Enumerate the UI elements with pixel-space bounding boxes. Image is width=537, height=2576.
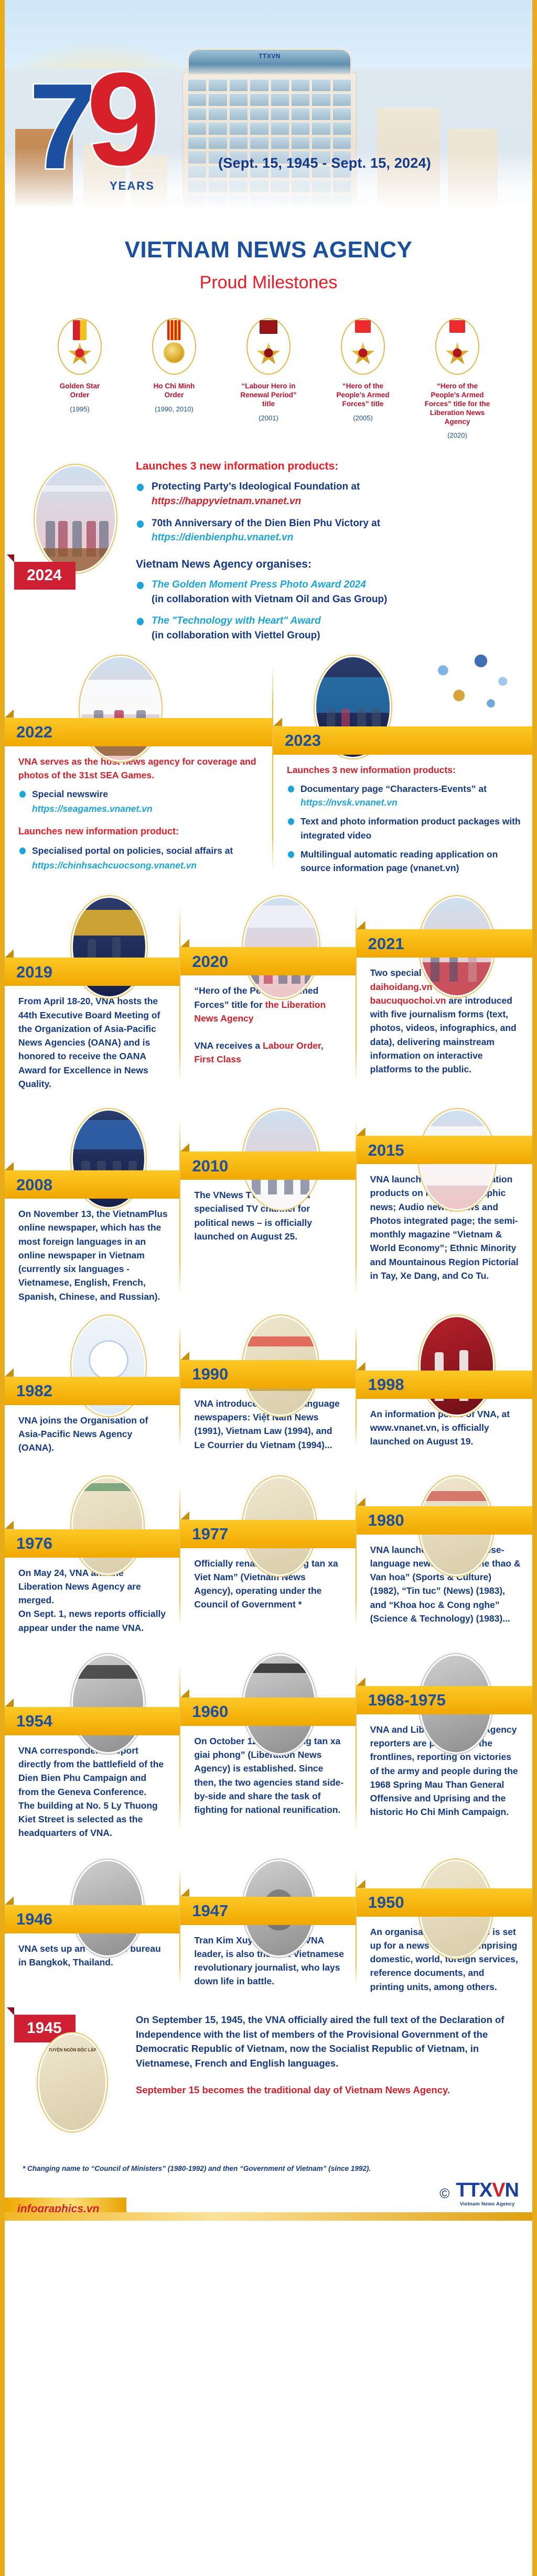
year-bar-1968-1975: 1968-1975 xyxy=(357,1686,532,1714)
year-label: 1950 xyxy=(368,1894,404,1910)
copyright-icon: © xyxy=(439,2186,449,2202)
timeline-cell-1980: 1980 VNA launches the Vietnamese-languag… xyxy=(357,1478,532,1635)
year-label: 1998 xyxy=(368,1376,404,1393)
publisher-credit: © TTXVN Vietnam News Agency xyxy=(439,2180,519,2207)
photo-1954-vna-staff xyxy=(73,1656,143,1752)
timeline-row: 1954 VNA correspondents report directly … xyxy=(5,1656,532,1840)
timeline-cell-2008: 2008 On November 13, the VietnamPlus onl… xyxy=(5,1111,180,1303)
timeline-cell-1982: 1982 VNA joins the Organisation of Asia-… xyxy=(5,1317,180,1455)
list-item: Specialised portal on policies, social a… xyxy=(18,844,262,873)
item-text: Special newswire xyxy=(32,789,108,799)
award-year: (2005) xyxy=(317,414,409,422)
list-item: Text and photo information product packa… xyxy=(287,814,521,842)
list-item: Special newswire https://seagames.vnanet… xyxy=(18,787,262,816)
timeline: 2022 VNA serves as the host news agency … xyxy=(5,657,532,1994)
timeline-cell-2021: 2021 Two special newswires daihoidang.vn… xyxy=(357,898,532,1091)
milestone-2024-content: Launches 3 new information products: Pro… xyxy=(136,457,532,642)
award-collaborator: (in collaboration with Vietnam Oil and G… xyxy=(152,593,511,606)
year-bar-2022: 2022 xyxy=(5,718,273,746)
year-label: 1980 xyxy=(368,1512,404,1528)
page-subtitle: Proud Milestones xyxy=(5,273,532,293)
heading-organises: Vietnam News Agency organises: xyxy=(136,558,511,571)
item-url[interactable]: https://seagames.vnanet.vn xyxy=(32,802,262,816)
award-item: “Hero of the People’s Armed Forces” titl… xyxy=(412,317,503,439)
timeline-cell-1976: 1976 On May 24, VNA and the Liberation N… xyxy=(5,1478,180,1635)
year-bar-1954: 1954 xyxy=(5,1707,180,1735)
bullet-list: Documentary page “Characters-Events” at … xyxy=(287,782,521,875)
timeline-cell-1977: 1977 Officially renamed “Thong tan xa Vi… xyxy=(180,1478,356,1635)
timeline-body: On November 13, the VietnamPlus online n… xyxy=(18,1199,169,1303)
list-item: Documentary page “Characters-Events” at … xyxy=(287,782,521,810)
year-bar-1950: 1950 xyxy=(357,1888,532,1917)
infographic-page: TTXVN 7 9 YEARS xyxy=(0,0,537,2576)
timeline-body: VNA joins the Organisation of Asia-Pacif… xyxy=(18,1405,169,1455)
year-label: 1954 xyxy=(16,1713,52,1729)
timeline-body: VNA serves as the host news agency for c… xyxy=(18,746,262,873)
photo-1976-document xyxy=(73,1478,142,1573)
year-bar-1976: 1976 xyxy=(5,1529,180,1558)
lead-text: Launches 3 new information products: xyxy=(287,763,521,777)
award-year: (2001) xyxy=(223,414,314,422)
year-label: 1968-1975 xyxy=(368,1692,446,1708)
list-item: The Golden Moment Press Photo Award 2024… xyxy=(136,578,511,606)
year-bar-2019: 2019 xyxy=(5,958,180,986)
digit-nine: 9 xyxy=(87,53,160,186)
timeline-cell-2023: 2023 Launches 3 new information products… xyxy=(273,657,532,881)
award-name: Ho Chi Minh Order xyxy=(128,382,220,400)
timeline-row: 1946 VNA sets up an overseas bureau in B… xyxy=(5,1861,532,1994)
year-bar-1990: 1990 xyxy=(180,1360,356,1388)
text-segment: are introduced with five journalism form… xyxy=(370,995,517,1074)
photo-2024-launch-ceremony xyxy=(36,466,115,571)
bullet-list-2: Specialised portal on policies, social a… xyxy=(18,844,262,873)
lead-text: VNA serves as the host news agency for c… xyxy=(18,755,262,782)
ttxvn-logo: TTXVN Vietnam News Agency xyxy=(456,2180,519,2207)
timeline-cell-1954: 1954 VNA correspondents report directly … xyxy=(5,1656,180,1840)
body-part-b: VNA receives a Labour Order, First Class xyxy=(194,1039,345,1067)
year-bar-2020: 2020 xyxy=(180,947,356,975)
timeline-body: From April 18-20, VNA hosts the 44th Exe… xyxy=(18,986,169,1091)
anniversary-logo: 7 9 YEARS xyxy=(25,57,192,193)
year-label: 1990 xyxy=(192,1366,228,1382)
item-text: Protecting Party’s Ideological Foundatio… xyxy=(152,481,360,492)
item-url[interactable]: https://nvsk.vnanet.vn xyxy=(300,797,398,808)
award-year: (1995) xyxy=(34,405,125,413)
ho-chi-minh-order-medal-icon xyxy=(151,317,197,376)
timeline-row: 2019 From April 18-20, VNA hosts the 44t… xyxy=(5,898,532,1091)
year-label: 1982 xyxy=(16,1383,52,1399)
footer-gold-bar xyxy=(5,2212,532,2221)
year-bar-1947: 1947 xyxy=(180,1897,356,1925)
year-tag-2024: 2024 xyxy=(14,562,76,590)
year-bar-2023: 2023 xyxy=(273,726,532,755)
launch-list: Protecting Party’s Ideological Foundatio… xyxy=(136,480,511,545)
year-label: 2019 xyxy=(16,964,52,980)
sub-heading: Launches new information product: xyxy=(18,824,262,839)
list-item: Multilingual automatic reading applicati… xyxy=(287,847,521,875)
labour-hero-medal-icon xyxy=(245,317,292,376)
timeline-body: Launches 3 new information products: Doc… xyxy=(287,755,521,875)
timeline-cell-1998: 1998 An information portal of VNA, at ww… xyxy=(357,1317,532,1455)
year-bar-1960: 1960 xyxy=(180,1698,356,1726)
timeline-row: 1982 VNA joins the Organisation of Asia-… xyxy=(5,1317,532,1455)
year-bar-1977: 1977 xyxy=(180,1520,356,1548)
body-text: On September 15, 1945, the VNA officiall… xyxy=(136,2013,514,2071)
item-text: Specialised portal on policies, social a… xyxy=(32,845,233,856)
timeline-cell-2019: 2019 From April 18-20, VNA hosts the 44t… xyxy=(5,898,180,1091)
page-footer: © TTXVN Vietnam News Agency infographics… xyxy=(5,2172,532,2221)
timeline-cell-2015: 2015 VNA launches 5 new information prod… xyxy=(357,1111,532,1303)
year-label: 1946 xyxy=(16,1911,52,1927)
year-bar-2015: 2015 xyxy=(357,1136,532,1164)
timeline-row: 2022 VNA serves as the host news agency … xyxy=(5,657,532,881)
timeline-cell-2020: 2020 “Hero of the People’s Armed Forces”… xyxy=(180,898,356,1091)
year-bar-2021: 2021 xyxy=(357,929,532,958)
hero-banner: TTXVN 7 9 YEARS xyxy=(5,0,532,225)
timeline-cell-2010: 2010 The VNews TV channel – a specialise… xyxy=(180,1111,356,1303)
photo-1945-declaration-of-independence: TUYỆN NGÔN ĐỘC LẬP xyxy=(39,2035,105,2130)
year-label: 2022 xyxy=(16,724,52,740)
timeline-cell-2022: 2022 VNA serves as the host news agency … xyxy=(5,657,273,881)
milestone-2024: 2024 Launches 3 new information products… xyxy=(5,457,532,642)
list-item: Protecting Party’s Ideological Foundatio… xyxy=(136,480,511,508)
footnote: * Changing name to “Council of Ministers… xyxy=(23,2165,532,2172)
year-label: 2023 xyxy=(285,732,321,748)
award-year: (1990, 2010) xyxy=(128,405,220,413)
timeline-row: 2008 On November 13, the VietnamPlus onl… xyxy=(5,1111,532,1303)
year-label: 1976 xyxy=(16,1535,52,1551)
year-label: 1960 xyxy=(192,1703,228,1720)
award-name: “Hero of the People’s Armed Forces” titl… xyxy=(317,382,409,409)
award-name: Golden Star Order xyxy=(34,382,125,400)
year-label: 2008 xyxy=(16,1177,52,1193)
year-label: 2015 xyxy=(368,1142,404,1158)
newswire-2: baucuquochoi.vn xyxy=(370,995,446,1006)
timeline-row: 1976 On May 24, VNA and the Liberation N… xyxy=(5,1478,532,1635)
award-title: The Golden Moment Press Photo Award 2024 xyxy=(152,579,366,590)
award-year: (2020) xyxy=(412,431,503,439)
award-item: Ho Chi Minh Order (1990, 2010) xyxy=(128,317,220,413)
award-name: “Labour Hero in Renewal Period” title xyxy=(223,382,314,409)
award-collaborator: (in collaboration with Viettel Group) xyxy=(152,629,511,643)
timeline-cell-1968-1975: 1968-1975 VNA and Liberation News Agency… xyxy=(357,1656,532,1840)
year-label: 1977 xyxy=(192,1526,228,1542)
year-bar-1998: 1998 xyxy=(357,1371,532,1399)
item-url[interactable]: https://dienbienphu.vnanet.vn xyxy=(152,531,511,545)
heading-launches: Launches 3 new information products: xyxy=(136,460,511,473)
year-label: 2020 xyxy=(192,953,228,970)
timeline-cell-1950: 1950 An organisational structure is set … xyxy=(357,1861,532,1994)
year-label: 2021 xyxy=(368,936,404,952)
awards-row: Golden Star Order (1995) Ho Chi Minh Ord… xyxy=(5,293,532,439)
item-text: Documentary page “Characters-Events” at xyxy=(300,784,487,794)
text-segment: VNA receives a xyxy=(194,1040,263,1051)
timeline-cell-1947: 1947 Tran Kim Xuyen, the first VNA leade… xyxy=(180,1861,356,1994)
ttxvn-rooftop-sign: TTXVN xyxy=(259,52,281,60)
years-label: YEARS xyxy=(110,179,155,193)
award-item: Golden Star Order (1995) xyxy=(34,317,125,413)
timeline-cell-1960: 1960 On October 12, the “Thong tan xa gi… xyxy=(180,1656,356,1840)
page-title: VIETNAM NEWS AGENCY xyxy=(5,237,532,263)
year-label: 1947 xyxy=(192,1903,228,1919)
milestone-1945: 1945 TUYỆN NGÔN ĐỘC LẬP On September … xyxy=(5,2007,532,2144)
photo-1998-portal-launch xyxy=(421,1317,493,1415)
year-bar-2010: 2010 xyxy=(180,1151,356,1180)
award-name: “Hero of the People’s Armed Forces” titl… xyxy=(412,382,503,426)
photo-caption: TUYỆN NGÔN ĐỘC LẬP xyxy=(46,2048,99,2052)
year-bar-2008: 2008 xyxy=(5,1170,180,1199)
bullet-list: Special newswire https://seagames.vnanet… xyxy=(18,787,262,816)
hero-peoples-armed-forces-medal-icon xyxy=(340,317,386,376)
highlight-text: September 15 becomes the traditional day… xyxy=(136,2084,514,2096)
organise-list: The Golden Moment Press Photo Award 2024… xyxy=(136,578,511,643)
award-item: “Labour Hero in Renewal Period” title (2… xyxy=(223,317,314,422)
year-bar-1946: 1946 xyxy=(5,1905,180,1933)
golden-star-order-medal-icon xyxy=(57,317,103,376)
item-url[interactable]: https://chinhsachcuocsong.vnanet.vn xyxy=(32,858,262,872)
year-bar-1982: 1982 xyxy=(5,1377,180,1405)
anniversary-dates: (Sept. 15, 1945 - Sept. 15, 2024) xyxy=(178,155,471,171)
item-text: 70th Anniversary of the Dien Bien Phu Vi… xyxy=(152,518,380,529)
logo-subtitle: Vietnam News Agency xyxy=(456,2201,519,2207)
item-url[interactable]: https://happyvietnam.vnanet.vn xyxy=(152,495,511,508)
timeline-cell-1990: 1990 VNA introduces foreign-language new… xyxy=(180,1317,356,1455)
list-item: 70th Anniversary of the Dien Bien Phu Vi… xyxy=(136,517,511,545)
year-label: 2010 xyxy=(192,1158,228,1174)
illustration-digital-network xyxy=(421,647,521,725)
year-bar-1980: 1980 xyxy=(357,1506,532,1535)
timeline-cell-1946: 1946 VNA sets up an overseas bureau in B… xyxy=(5,1861,180,1994)
award-title: The "Technology with Heart" Award xyxy=(152,615,321,626)
award-item: “Hero of the People’s Armed Forces” titl… xyxy=(317,317,409,422)
logo-wordmark: TTXVN xyxy=(456,2180,519,2200)
timeline-body: VNA correspondents report directly from … xyxy=(18,1735,169,1840)
milestone-1945-content: On September 15, 1945, the VNA officiall… xyxy=(136,2007,532,2096)
hero-liberation-news-agency-medal-icon xyxy=(434,317,480,376)
list-item: The "Technology with Heart" Award (in co… xyxy=(136,614,511,642)
